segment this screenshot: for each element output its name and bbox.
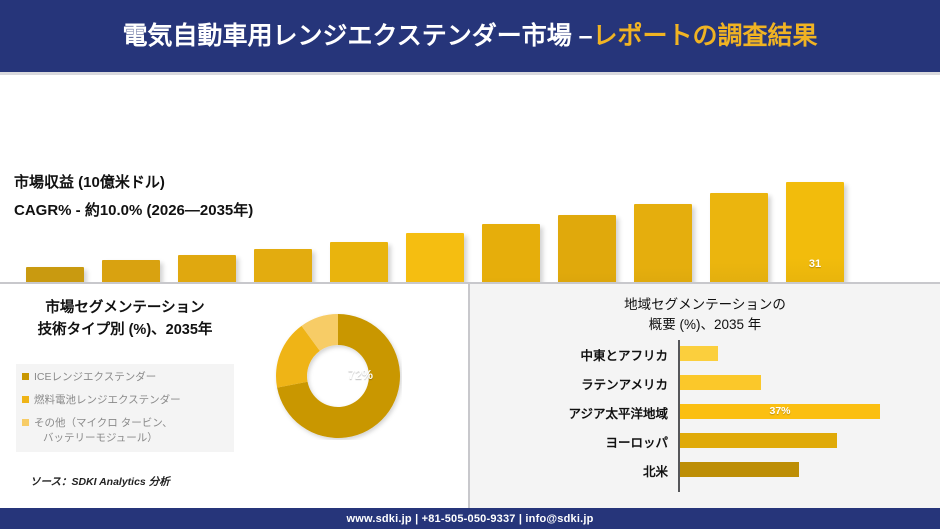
region-row: ラテンアメリカ bbox=[470, 369, 940, 397]
region-bar-0 bbox=[680, 346, 718, 361]
legend-label: 燃料電池レンジエクステンダー bbox=[34, 393, 181, 407]
region-label-3: ヨーロッパ bbox=[470, 432, 668, 451]
region-bars: 中東とアフリカラテンアメリカアジア太平洋地域37%ヨーロッパ北米 bbox=[470, 340, 940, 500]
region-row: 中東とアフリカ bbox=[470, 340, 940, 368]
legend-item: ICEレンジエクステンダー bbox=[22, 370, 230, 384]
bar-value-label: 31 bbox=[786, 258, 844, 270]
region-bar-2: 37% bbox=[680, 404, 880, 419]
segmentation-title: 市場セグメンテーション 技術タイプ別 (%)、2035年 bbox=[10, 297, 240, 342]
page-title-accent: レポートの調査結果 bbox=[593, 22, 818, 50]
legend-item: その他（マイクロ タービン、バッテリーモジュール） bbox=[22, 416, 230, 444]
donut-svg bbox=[274, 312, 402, 440]
infographic-page: 電気自動車用レンジエクステンダー市場 –レポートの調査結果 市場収益 (10億米… bbox=[0, 0, 940, 529]
region-title-line1: 地域セグメンテーションの bbox=[624, 297, 786, 312]
segmentation-title-line1: 市場セグメンテーション bbox=[45, 300, 204, 316]
donut-percent-label: 72% bbox=[348, 368, 373, 382]
segmentation-title-line2: 技術タイプ別 (%)、2035年 bbox=[38, 322, 213, 338]
technology-segmentation-panel: 市場セグメンテーション 技術タイプ別 (%)、2035年 ICEレンジエクステン… bbox=[0, 284, 468, 508]
market-revenue-panel: 市場収益 (10億米ドル) CAGR% - 約10.0% (2026―2035年… bbox=[0, 75, 940, 282]
legend-label: ICEレンジエクステンダー bbox=[34, 370, 156, 384]
technology-donut-chart: 72% bbox=[274, 312, 402, 440]
donut-legend: ICEレンジエクステンダー燃料電池レンジエクステンダーその他（マイクロ タービン… bbox=[16, 364, 234, 452]
region-label-4: 北米 bbox=[470, 461, 668, 480]
footer-banner: www.sdki.jp | +81-505-050-9337 | info@sd… bbox=[0, 508, 940, 529]
legend-swatch-icon bbox=[22, 419, 29, 426]
region-bar-value-label: 37% bbox=[680, 404, 880, 419]
region-label-2: アジア太平洋地域 bbox=[470, 403, 668, 422]
header-banner: 電気自動車用レンジエクステンダー市場 –レポートの調査結果 bbox=[0, 0, 940, 72]
region-title-line2: 概要 (%)、2035 年 bbox=[649, 317, 762, 332]
legend-label-line2: バッテリーモジュール） bbox=[34, 431, 173, 445]
page-title: 電気自動車用レンジエクステンダー市場 –レポートの調査結果 bbox=[122, 24, 817, 49]
region-label-0: 中東とアフリカ bbox=[470, 345, 668, 364]
page-title-main: 電気自動車用レンジエクステンダー市場 – bbox=[122, 22, 592, 50]
region-bar-3 bbox=[680, 433, 837, 448]
source-note: ソース：SDKI Analytics 分析 bbox=[30, 474, 170, 489]
region-bar-4 bbox=[680, 462, 799, 477]
legend-item: 燃料電池レンジエクステンダー bbox=[22, 393, 230, 407]
region-label-1: ラテンアメリカ bbox=[470, 374, 668, 393]
regional-segmentation-panel: 地域セグメンテーションの 概要 (%)、2035 年 中東とアフリカラテンアメリ… bbox=[470, 284, 940, 508]
legend-swatch-icon bbox=[22, 396, 29, 403]
region-row: アジア太平洋地域37% bbox=[470, 398, 940, 426]
footer-contact: www.sdki.jp | +81-505-050-9337 | info@sd… bbox=[346, 513, 593, 525]
region-row: ヨーロッパ bbox=[470, 427, 940, 455]
region-row: 北米 bbox=[470, 456, 940, 484]
region-title: 地域セグメンテーションの 概要 (%)、2035 年 bbox=[470, 295, 940, 336]
region-bar-1 bbox=[680, 375, 761, 390]
legend-label: その他（マイクロ タービン、バッテリーモジュール） bbox=[34, 416, 173, 444]
legend-swatch-icon bbox=[22, 373, 29, 380]
